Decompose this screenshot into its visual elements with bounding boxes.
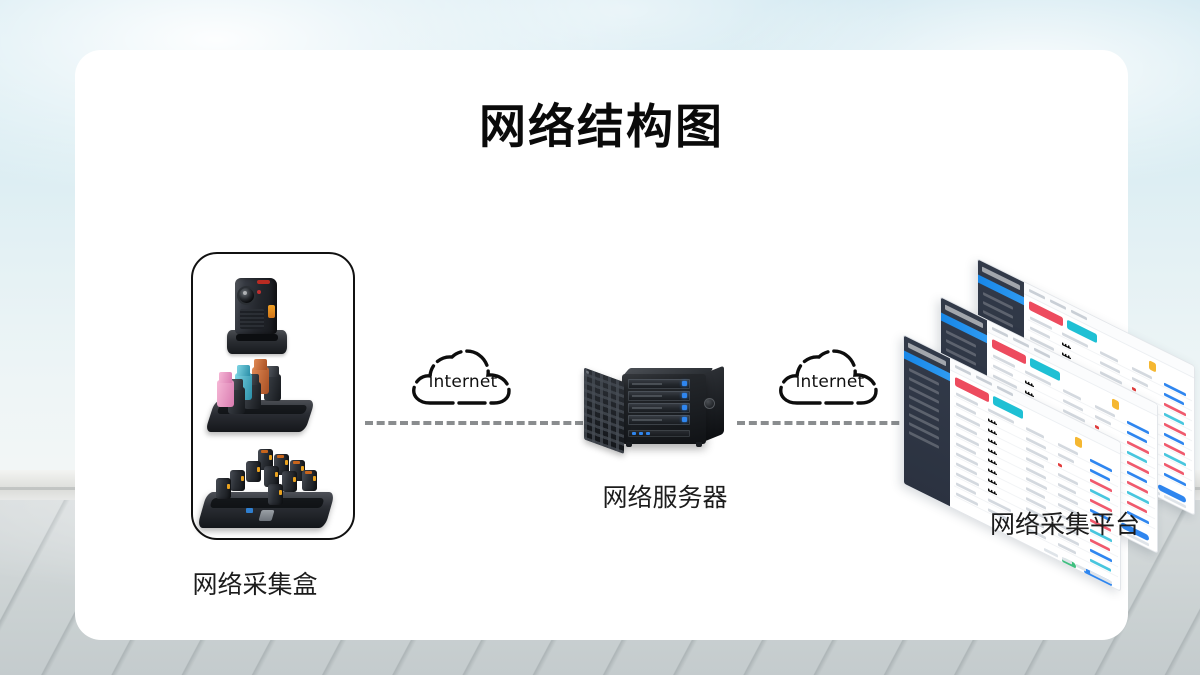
drive-bay [628,403,690,413]
server-front-door[interactable] [584,367,624,454]
connector-server-to-platform [737,421,923,425]
device-multi-bay-dock [202,448,332,536]
server-front-io-strip [628,430,690,437]
cloud-internet-left: internet [408,346,518,412]
drive-bay [628,379,690,389]
camera-record-button [257,280,270,284]
cloud-label: internet [775,372,885,392]
label-collection-platform: 网络采集平台 [885,505,1200,541]
label-collection-box: 网络采集盒 [115,565,395,601]
dock-slot-device [268,484,283,505]
cloud-internet-right: internet [775,346,885,412]
status-tag [1112,398,1119,410]
server-power-button[interactable] [704,398,715,409]
node-network-server[interactable] [580,368,730,464]
dock-slot-device [217,380,234,407]
dock-slot-device [282,471,297,492]
camera-body [235,278,277,334]
server-drive-bays [628,379,690,427]
cloud-label: internet [408,372,518,392]
camera-lens [239,288,254,303]
device-body-camera-single-dock [221,272,293,356]
dashboard-sidebar [904,335,950,508]
dock-indicator-chip [246,508,253,513]
camera-status-led [257,290,261,294]
drive-bay [628,391,690,401]
server-foot [696,442,702,447]
server-foot [626,442,632,447]
connector-box-to-server [365,421,583,425]
dock-slot-device [216,478,231,499]
page-title: 网络结构图 [75,88,1128,157]
device-six-slot-dock [208,358,312,440]
dock-slot-device [302,470,317,491]
label-network-server: 网络服务器 [530,478,800,514]
camera-side-accent [268,305,275,318]
node-collection-platform[interactable] [903,250,1179,500]
dock-slot-device [230,470,245,491]
dock-slot-device [246,461,261,482]
diagram-canvas: 网络结构图 [0,0,1200,675]
status-tag [1149,360,1156,372]
status-tag [1075,436,1082,448]
camera-grip-texture [240,309,264,329]
drive-bay [628,415,690,425]
content-card: 网络结构图 [75,50,1128,640]
